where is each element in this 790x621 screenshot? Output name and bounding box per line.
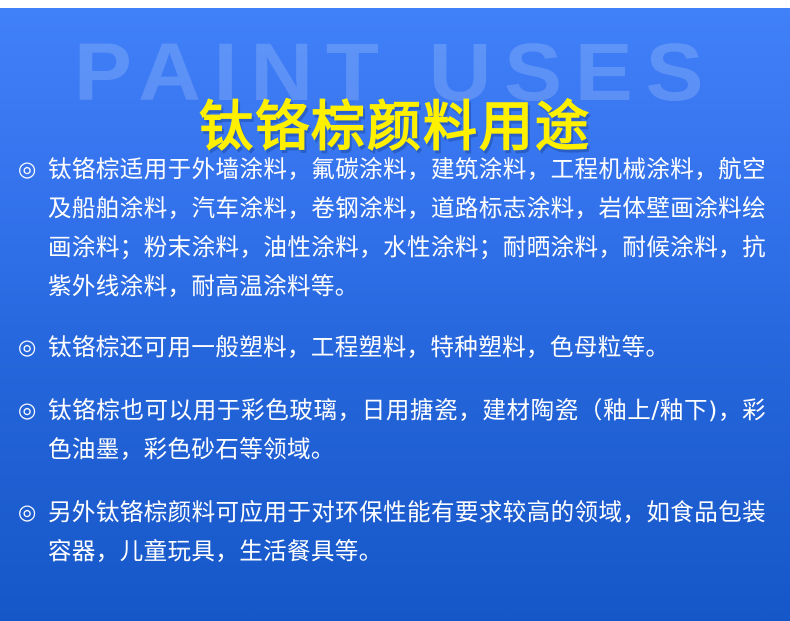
page-title: 钛铬棕颜料用途 [0,96,790,158]
use-item-text-eco-friendly: 另外钛铬棕颜料可应用于对环保性能有要求较高的领域，如食品包装容器，儿童玩具，生活… [48,493,766,571]
banner-header: PAINT USES 钛铬棕颜料用途 [0,8,790,144]
use-item-text-plastics: 钛铬棕还可用一般塑料，工程塑料，特种塑料，色母粒等。 [48,328,766,367]
banner-canvas: PAINT USES 钛铬棕颜料用途 ◎ 钛铬棕适用于外墙涂料，氟碳涂料，建筑涂… [0,8,790,621]
use-item-text-glass-ceramics-ink: 钛铬棕也可以用于彩色玻璃，日用搪瓷，建材陶瓷（釉上/釉下)，彩色油墨，彩色砂石等… [48,391,766,469]
double-circle-bullet-icon: ◎ [18,328,48,367]
double-circle-bullet-icon: ◎ [18,150,48,189]
list-item: ◎ 钛铬棕也可以用于彩色玻璃，日用搪瓷，建材陶瓷（釉上/釉下)，彩色油墨，彩色砂… [18,391,766,469]
list-item: ◎ 钛铬棕还可用一般塑料，工程塑料，特种塑料，色母粒等。 [18,328,766,367]
paint-uses-banner: PAINT USES 钛铬棕颜料用途 ◎ 钛铬棕适用于外墙涂料，氟碳涂料，建筑涂… [0,0,790,621]
list-item: ◎ 钛铬棕适用于外墙涂料，氟碳涂料，建筑涂料，工程机械涂料，航空及船舶涂料，汽车… [18,150,766,306]
list-item: ◎ 另外钛铬棕颜料可应用于对环保性能有要求较高的领域，如食品包装容器，儿童玩具，… [18,493,766,571]
use-item-text-coatings: 钛铬棕适用于外墙涂料，氟碳涂料，建筑涂料，工程机械涂料，航空及船舶涂料，汽车涂料… [48,150,766,306]
uses-list: ◎ 钛铬棕适用于外墙涂料，氟碳涂料，建筑涂料，工程机械涂料，航空及船舶涂料，汽车… [0,150,790,571]
double-circle-bullet-icon: ◎ [18,493,48,532]
double-circle-bullet-icon: ◎ [18,391,48,430]
